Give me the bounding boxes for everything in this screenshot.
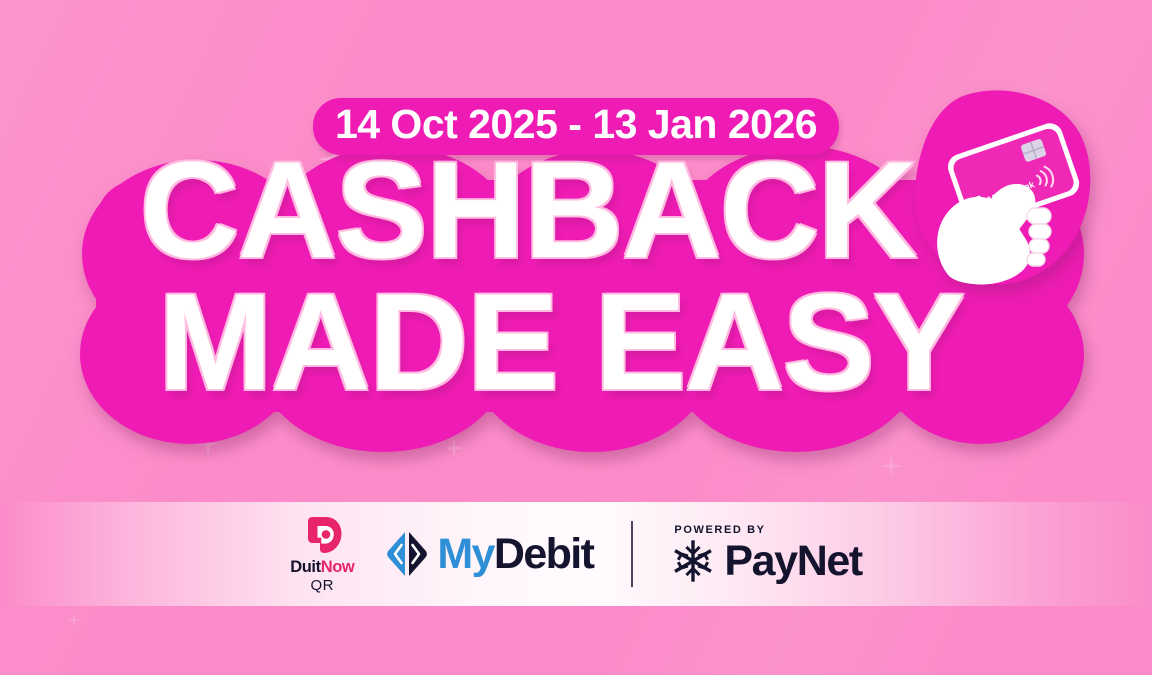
cashback-promo-banner: CASHBACK MADE EASY 14 Oct 2025 - 13 Jan … xyxy=(0,0,1152,675)
partner-logo-band: DuitNow QR MyDebit POWERED BY xyxy=(0,502,1152,606)
logo-divider xyxy=(631,521,633,587)
mydebit-word-my: My xyxy=(437,530,494,578)
mydebit-logo[interactable]: MyDebit xyxy=(386,531,593,577)
powered-by-label: POWERED BY xyxy=(674,525,861,536)
sparkle-icon xyxy=(66,612,82,628)
duitnow-qr-logo[interactable]: DuitNow QR xyxy=(290,514,354,594)
promo-date-range: 14 Oct 2025 - 13 Jan 2026 xyxy=(335,103,817,146)
logo-band-inner: DuitNow QR MyDebit POWERED BY xyxy=(290,514,862,594)
hand-holding-card-illustration: AEON Bank xyxy=(905,88,1095,293)
duitnow-word-now: Now xyxy=(321,558,355,576)
sticker-lobe xyxy=(258,270,508,452)
paynet-logo[interactable]: POWERED BY xyxy=(671,525,861,583)
duitnow-word-duit: Duit xyxy=(290,558,320,576)
duitnow-wordmark: DuitNow xyxy=(290,559,354,576)
mydebit-wordmark: MyDebit xyxy=(437,533,593,576)
duitnow-qr-sublabel: QR xyxy=(311,577,335,594)
mydebit-word-debit: Debit xyxy=(494,530,594,578)
promo-date-pill: 14 Oct 2025 - 13 Jan 2026 xyxy=(313,98,839,155)
duitnow-droplet-icon xyxy=(300,514,344,558)
paynet-wordmark: PayNet xyxy=(724,540,861,583)
sparkle-icon xyxy=(880,455,902,477)
paynet-lockup: PayNet xyxy=(671,539,861,583)
paynet-snowflake-icon xyxy=(671,539,715,583)
mydebit-chevron-icon xyxy=(386,531,428,577)
